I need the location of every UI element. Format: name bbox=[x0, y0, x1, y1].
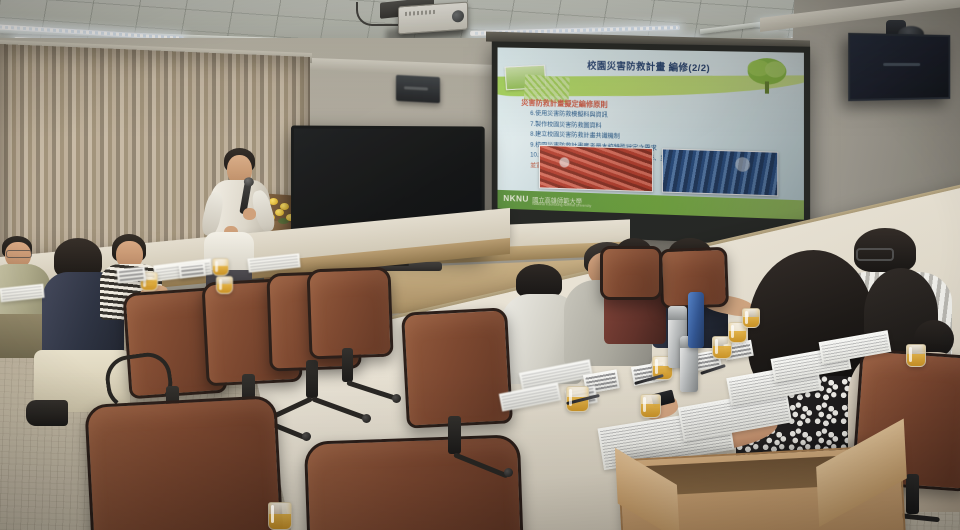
chair-caster bbox=[504, 468, 513, 477]
chair-post bbox=[342, 348, 353, 382]
name-placard bbox=[179, 263, 206, 279]
tea-glass[interactable] bbox=[742, 308, 760, 328]
water-bottle[interactable] bbox=[688, 292, 704, 348]
office-chair-foreground[interactable] bbox=[88, 400, 298, 530]
glasses-icon bbox=[6, 250, 32, 258]
wall-mounted-tv bbox=[848, 33, 950, 101]
tea-glass[interactable] bbox=[212, 258, 229, 276]
attendee-shoe bbox=[26, 400, 68, 426]
nknu-logo: NKNU bbox=[503, 193, 529, 204]
tea-glass[interactable] bbox=[216, 276, 233, 294]
slide-photo-drill bbox=[539, 145, 653, 192]
tea-glass[interactable] bbox=[906, 344, 926, 367]
ceiling-projector bbox=[398, 2, 468, 35]
box-flap-left bbox=[615, 448, 680, 530]
office-chair[interactable] bbox=[300, 268, 410, 418]
tree-icon bbox=[743, 56, 792, 98]
chair-post bbox=[448, 416, 461, 454]
slide-photo-row bbox=[539, 145, 778, 197]
presenter-right-hand bbox=[243, 208, 256, 220]
chair-back bbox=[84, 395, 283, 530]
chair-back bbox=[306, 267, 393, 360]
projector-lens-icon bbox=[452, 10, 464, 23]
slide-section-heading: 災害防救計畫擬定編修原則 bbox=[521, 97, 608, 110]
slide-photo-evacuation bbox=[662, 148, 779, 196]
cardboard-box[interactable] bbox=[617, 445, 906, 530]
slide-title: 校園災害防救計畫 編修(2/2) bbox=[587, 58, 766, 75]
presentation-slide: 校園災害防救計畫 編修(2/2) 災害防救計畫擬定編修原則 6.使用災害防救模擬… bbox=[498, 47, 804, 219]
tea-glass[interactable] bbox=[268, 502, 292, 530]
chair-base-arm bbox=[346, 380, 395, 400]
chair-base-arm bbox=[453, 452, 509, 478]
wall-speaker-icon bbox=[396, 75, 440, 103]
chair-back bbox=[401, 307, 513, 428]
attendee-hair bbox=[516, 264, 562, 298]
projector-vent bbox=[405, 10, 435, 16]
name-placard bbox=[117, 267, 146, 284]
office-chair-back[interactable] bbox=[600, 246, 662, 300]
chair-post bbox=[906, 474, 919, 514]
chair-back bbox=[600, 246, 662, 300]
university-name-en: National Kaohsiung Normal University bbox=[532, 202, 591, 208]
projection-screen: 校園災害防救計畫 編修(2/2) 災害防救計畫擬定編修原則 6.使用災害防救模擬… bbox=[492, 41, 810, 246]
tea-glass[interactable] bbox=[640, 394, 661, 418]
conference-room-photo: 校園災害防救計畫 編修(2/2) 災害防救計畫擬定編修原則 6.使用災害防救模擬… bbox=[0, 0, 960, 530]
